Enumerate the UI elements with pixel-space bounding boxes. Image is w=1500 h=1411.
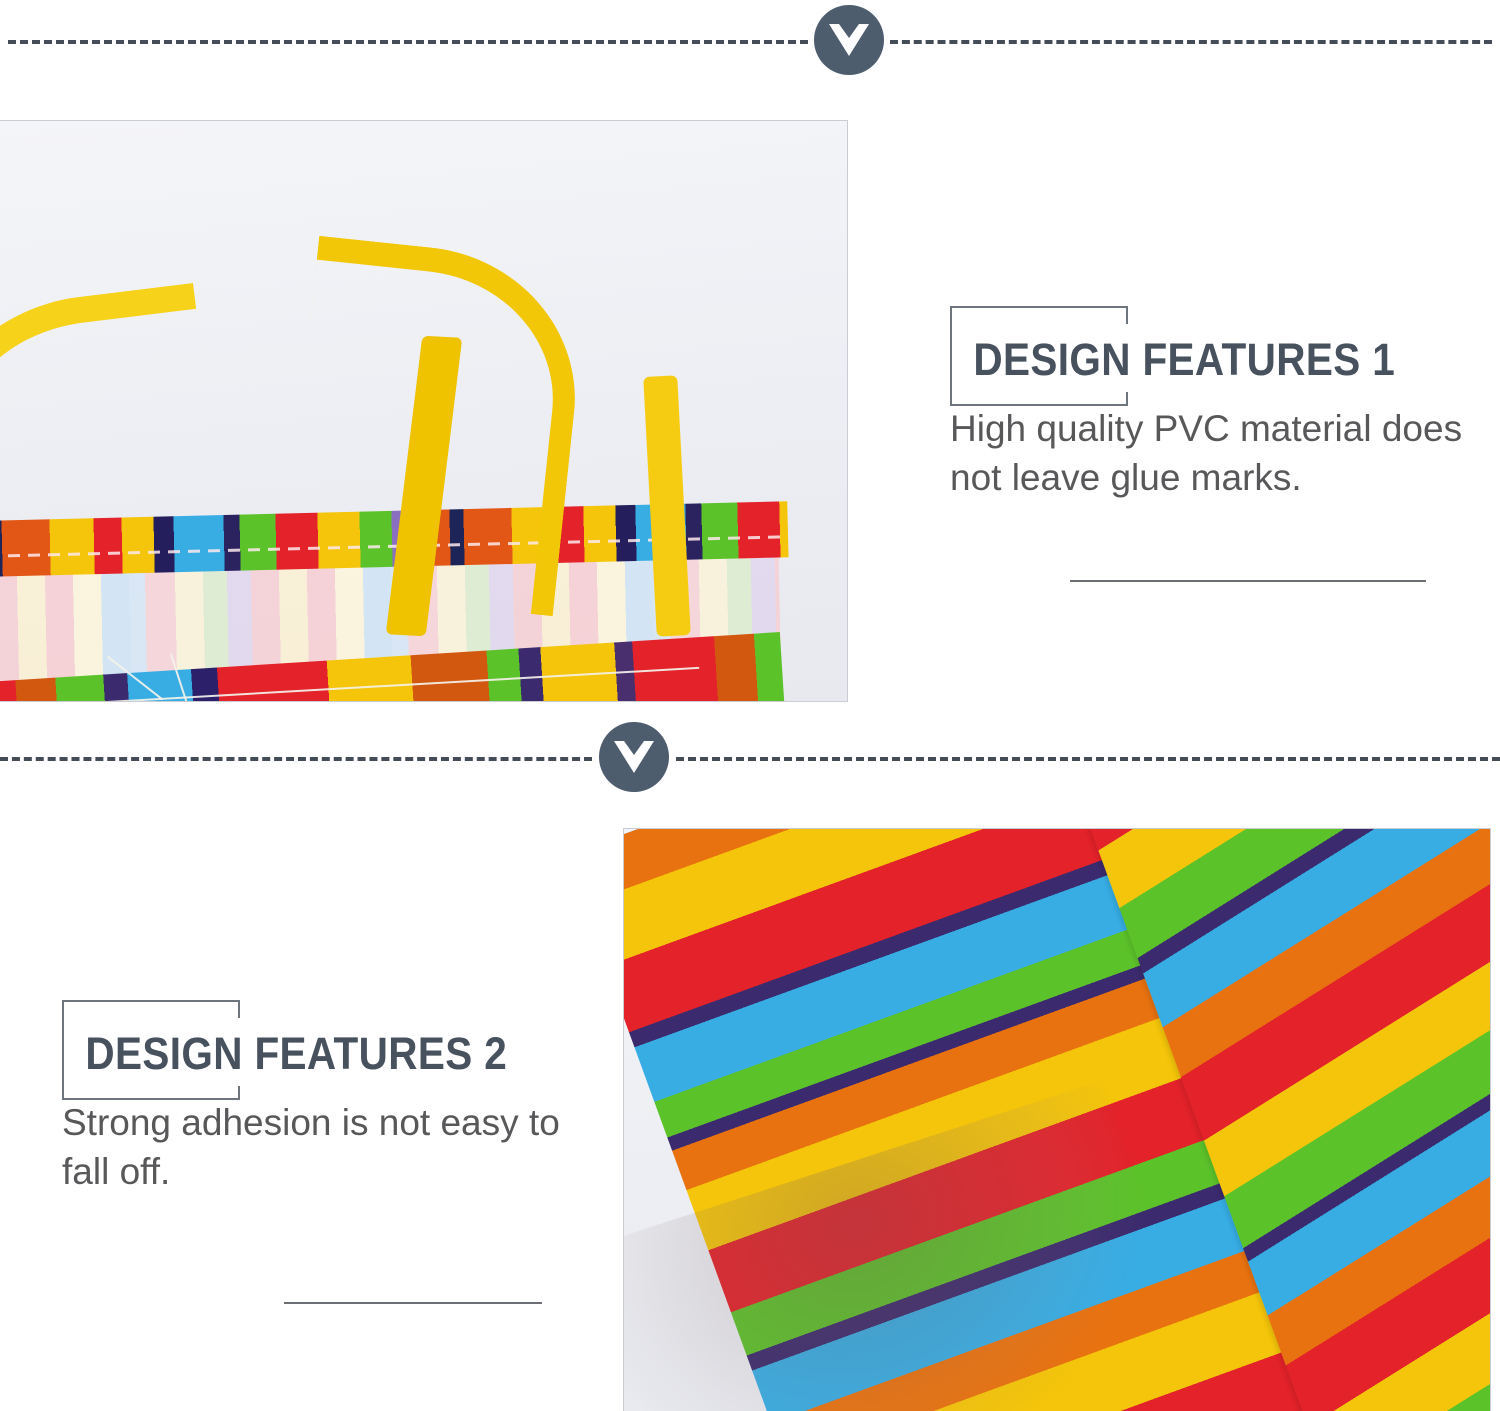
feature-title-wrap: DESIGN FEATURES 1 <box>950 306 1445 382</box>
feature-description: High quality PVC material does not leave… <box>950 404 1470 502</box>
dashed-rule-right <box>676 757 1500 761</box>
dashed-rule-right <box>890 40 1492 44</box>
divider-top <box>0 0 1500 80</box>
feature-block-1: DESIGN FEATURES 1 High quality PVC mater… <box>950 306 1470 502</box>
feature-underline-rule <box>1070 580 1426 582</box>
feature-title-wrap: DESIGN FEATURES 2 <box>62 1000 557 1076</box>
feature-title: DESIGN FEATURES 2 <box>62 1000 507 1076</box>
divider-middle <box>0 717 1500 797</box>
product-photo-bag-bottom-corner <box>624 829 1490 1411</box>
product-photo-bag-rim <box>0 121 847 701</box>
dashed-rule-left <box>0 757 592 761</box>
feature-underline-rule <box>284 1302 542 1304</box>
bag-handle-left <box>0 283 233 641</box>
feature-block-2: DESIGN FEATURES 2 Strong adhesion is not… <box>62 1000 562 1196</box>
dashed-rule-left <box>8 40 808 44</box>
chevron-down-badge <box>599 722 669 792</box>
chevron-down-icon <box>829 24 869 56</box>
chevron-down-badge <box>814 5 884 75</box>
feature-title: DESIGN FEATURES 1 <box>950 306 1395 382</box>
chevron-down-icon <box>614 741 654 773</box>
feature-description: Strong adhesion is not easy to fall off. <box>62 1098 562 1196</box>
